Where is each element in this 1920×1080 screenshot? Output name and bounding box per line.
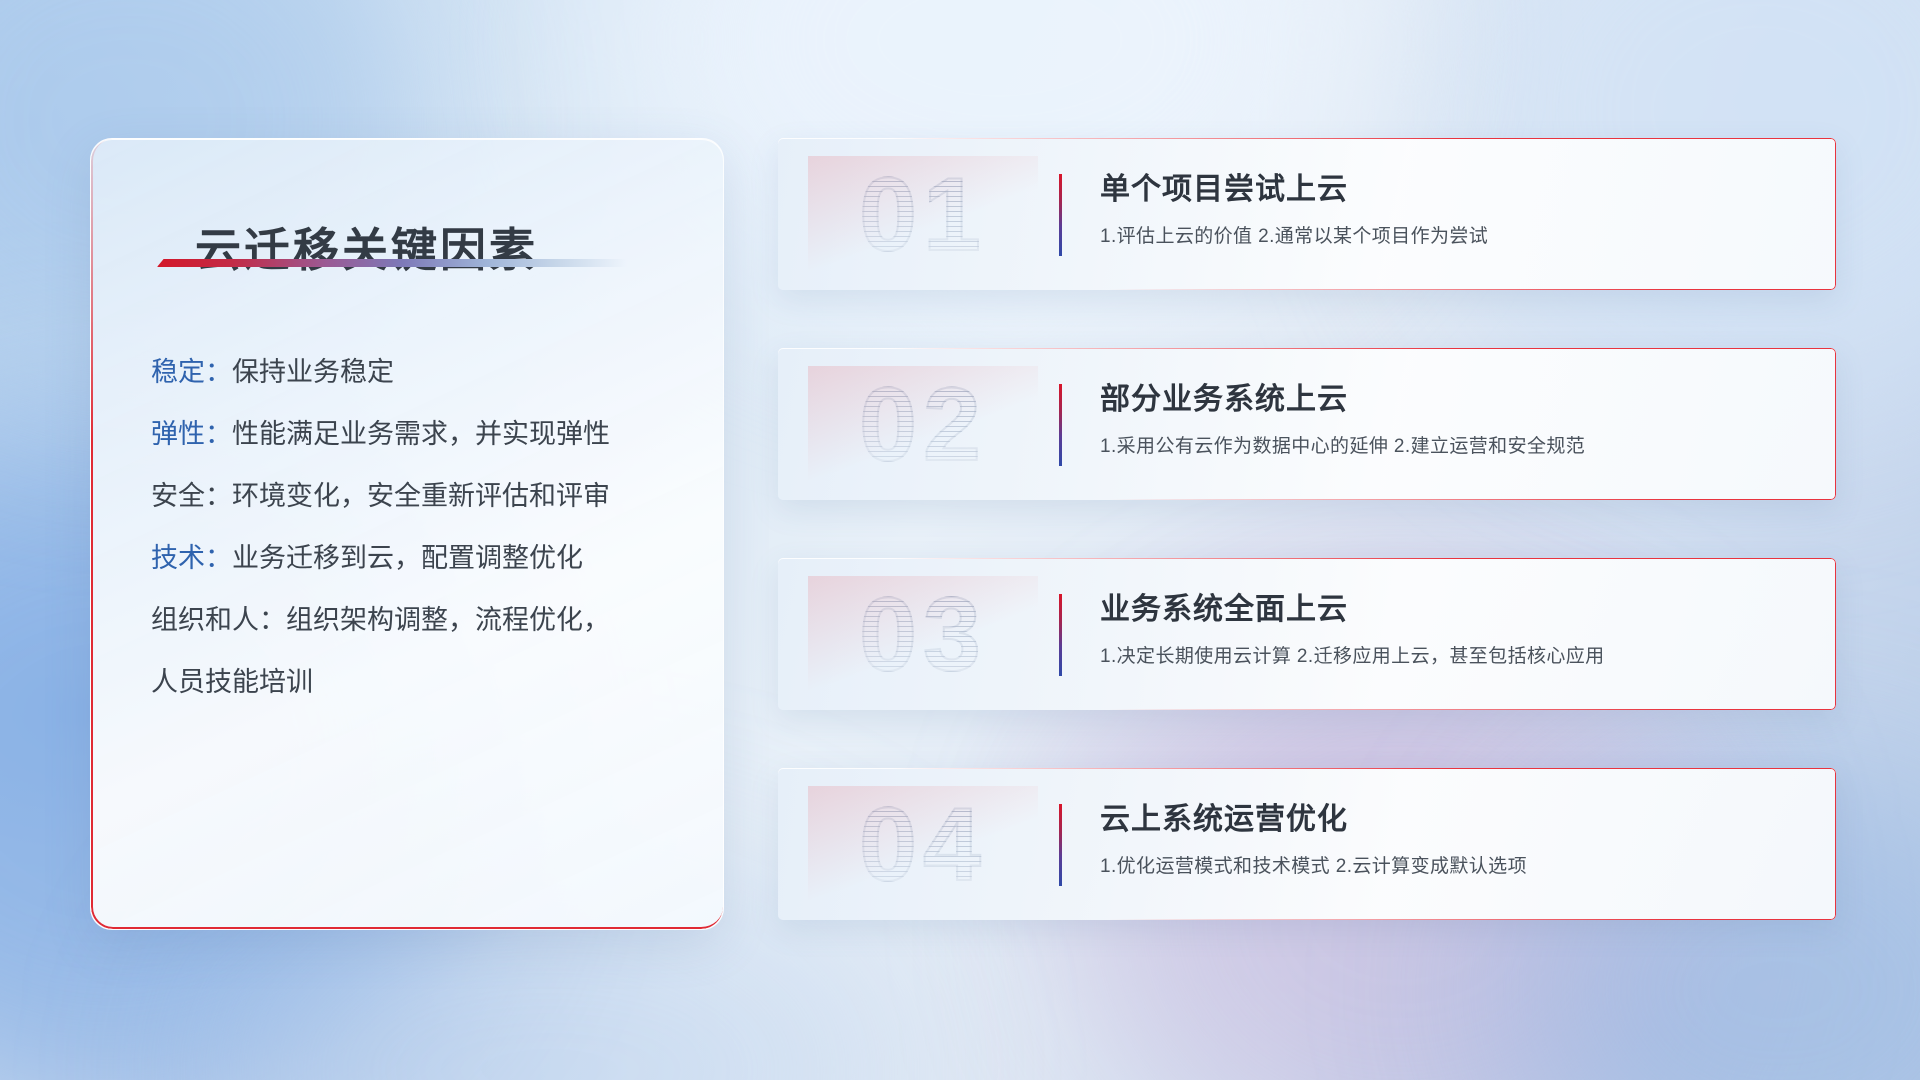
stage-number-tint-overlay: [808, 786, 1038, 904]
factor-label: 稳定：: [151, 357, 232, 387]
migration-stages-list: 01单个项目尝试上云1.评估上云的价值 2.通常以某个项目作为尝试02部分业务系…: [778, 138, 1836, 920]
key-factors-list: 稳定：保持业务稳定弹性：性能满足业务需求，并实现弹性安全：环境变化，安全重新评估…: [151, 341, 695, 713]
stage-card-03[interactable]: 03业务系统全面上云1.决定长期使用云计算 2.迁移应用上云，甚至包括核心应用: [778, 558, 1836, 710]
title-underline-gradient: [157, 259, 627, 267]
factor-row: 稳定：保持业务稳定: [151, 341, 695, 403]
factor-label: 技术：: [151, 543, 232, 573]
stage-number-tint-overlay: [808, 366, 1038, 484]
factor-label: 组织和人：: [151, 605, 286, 635]
stage-number-watermark: 02: [808, 366, 1038, 484]
stage-text-block: 单个项目尝试上云1.评估上云的价值 2.通常以某个项目作为尝试: [1100, 168, 1812, 252]
stage-card-01[interactable]: 01单个项目尝试上云1.评估上云的价值 2.通常以某个项目作为尝试: [778, 138, 1836, 290]
key-factors-panel: 云迁移关键因素 稳定：保持业务稳定弹性：性能满足业务需求，并实现弹性安全：环境变…: [90, 138, 724, 930]
stage-divider-bar: [1059, 594, 1062, 676]
panel-title: 云迁移关键因素: [195, 214, 538, 280]
stage-number-watermark: 03: [808, 576, 1038, 694]
factor-text: 环境变化，安全重新评估和评审: [232, 481, 610, 511]
stage-subtitle: 1.优化运营模式和技术模式 2.云计算变成默认选项: [1100, 852, 1812, 882]
factor-text: 保持业务稳定: [232, 357, 394, 387]
factor-row: 人员技能培训: [151, 651, 695, 713]
stage-number-watermark: 01: [808, 156, 1038, 274]
slide-canvas: 云迁移关键因素 稳定：保持业务稳定弹性：性能满足业务需求，并实现弹性安全：环境变…: [0, 0, 1920, 1080]
factor-row: 弹性：性能满足业务需求，并实现弹性: [151, 403, 695, 465]
factor-row: 安全：环境变化，安全重新评估和评审: [151, 465, 695, 527]
factor-text: 性能满足业务需求，并实现弹性: [232, 419, 610, 449]
stage-divider-bar: [1059, 384, 1062, 466]
stage-title: 业务系统全面上云: [1100, 588, 1812, 632]
stage-number-watermark: 04: [808, 786, 1038, 904]
factor-text: 组织架构调整，流程优化，: [286, 605, 610, 635]
stage-subtitle: 1.评估上云的价值 2.通常以某个项目作为尝试: [1100, 222, 1812, 252]
stage-subtitle: 1.采用公有云作为数据中心的延伸 2.建立运营和安全规范: [1100, 432, 1812, 462]
stage-title: 单个项目尝试上云: [1100, 168, 1812, 212]
factor-row: 技术：业务迁移到云，配置调整优化: [151, 527, 695, 589]
factor-row: 组织和人：组织架构调整，流程优化，: [151, 589, 695, 651]
factor-text: 人员技能培训: [151, 667, 313, 697]
stage-text-block: 部分业务系统上云1.采用公有云作为数据中心的延伸 2.建立运营和安全规范: [1100, 378, 1812, 462]
stage-text-block: 业务系统全面上云1.决定长期使用云计算 2.迁移应用上云，甚至包括核心应用: [1100, 588, 1812, 672]
stage-divider-bar: [1059, 804, 1062, 886]
stage-title: 部分业务系统上云: [1100, 378, 1812, 422]
stage-card-04[interactable]: 04云上系统运营优化1.优化运营模式和技术模式 2.云计算变成默认选项: [778, 768, 1836, 920]
stage-title: 云上系统运营优化: [1100, 798, 1812, 842]
stage-text-block: 云上系统运营优化1.优化运营模式和技术模式 2.云计算变成默认选项: [1100, 798, 1812, 882]
stage-card-02[interactable]: 02部分业务系统上云1.采用公有云作为数据中心的延伸 2.建立运营和安全规范: [778, 348, 1836, 500]
stage-number-tint-overlay: [808, 576, 1038, 694]
factor-label: 弹性：: [151, 419, 232, 449]
factor-label: 安全：: [151, 481, 232, 511]
stage-subtitle: 1.决定长期使用云计算 2.迁移应用上云，甚至包括核心应用: [1100, 642, 1812, 672]
stage-number-tint-overlay: [808, 156, 1038, 274]
factor-text: 业务迁移到云，配置调整优化: [232, 543, 583, 573]
stage-divider-bar: [1059, 174, 1062, 256]
